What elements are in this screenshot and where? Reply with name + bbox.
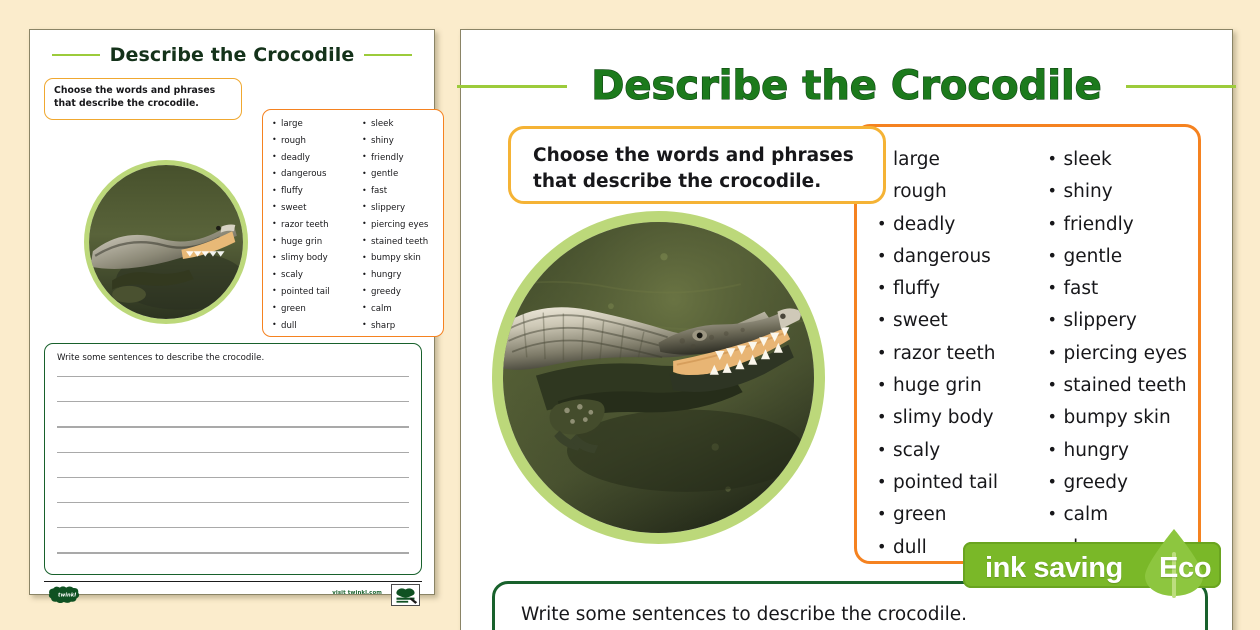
word-item[interactable]: stained teeth [362, 234, 443, 251]
word-item[interactable]: pointed tail [875, 467, 1028, 499]
word-list-column-1: largeroughdeadlydangerousfluffysweetrazo… [263, 116, 353, 336]
word-item[interactable]: greedy [1046, 467, 1199, 499]
word-item[interactable]: large [272, 116, 353, 133]
word-item[interactable]: sweet [272, 200, 353, 217]
crocodile-image [503, 222, 814, 533]
title-rule-right-icon [364, 54, 412, 56]
word-item[interactable]: shiny [362, 133, 443, 150]
word-item[interactable]: fluffy [875, 273, 1028, 305]
eco-badge-eco-text: Eco [1159, 552, 1211, 585]
word-item[interactable]: rough [272, 133, 353, 150]
writing-lines [57, 376, 409, 554]
word-list-column-2: sleekshinyfriendlygentlefastslipperypier… [353, 116, 443, 336]
instruction-box: Choose the words and phrases that descri… [44, 78, 242, 120]
thumbnail-header: Describe the Crocodile [30, 44, 434, 66]
word-item[interactable]: fast [1046, 273, 1199, 305]
footer-divider [44, 581, 422, 582]
word-item[interactable]: greedy [362, 284, 443, 301]
twinkl-rating-badge [391, 584, 420, 606]
word-item[interactable]: green [272, 301, 353, 318]
word-item[interactable]: rough [875, 176, 1028, 208]
ink-saving-eco-badge: ink saving Eco [963, 528, 1260, 598]
word-item[interactable]: sleek [362, 116, 443, 133]
writing-line [57, 426, 409, 427]
word-item[interactable]: dangerous [875, 241, 1028, 273]
word-item[interactable]: gentle [362, 166, 443, 183]
word-item[interactable]: slippery [362, 200, 443, 217]
instruction-line-1: Choose the words and phrases [54, 85, 233, 98]
instruction-box-large: Choose the words and phrases that descri… [508, 126, 886, 204]
writing-line [57, 502, 409, 503]
word-item[interactable]: green [875, 499, 1028, 531]
crocodile-illustration-icon [89, 165, 243, 319]
word-item[interactable]: sharp [362, 318, 443, 335]
writing-line [57, 477, 409, 478]
word-item[interactable]: friendly [362, 150, 443, 167]
word-list-box: largeroughdeadlydangerousfluffysweetrazo… [262, 109, 444, 337]
crocodile-illustration-icon [503, 222, 814, 533]
word-item[interactable]: gentle [1046, 241, 1199, 273]
page-title-large: Describe the Crocodile [591, 66, 1102, 106]
writing-prompt: Write some sentences to describe the cro… [521, 604, 1179, 625]
word-item[interactable]: calm [362, 301, 443, 318]
crocodile-photo-large [492, 211, 825, 544]
writing-line [57, 552, 409, 553]
writing-prompt: Write some sentences to describe the cro… [57, 353, 409, 363]
word-item[interactable]: calm [1046, 499, 1199, 531]
word-item[interactable]: scaly [272, 267, 353, 284]
crocodile-photo-thumbnail [84, 160, 248, 324]
word-item[interactable]: razor teeth [272, 217, 353, 234]
word-item[interactable]: slimy body [272, 250, 353, 267]
word-item[interactable]: hungry [1046, 435, 1199, 467]
word-item[interactable]: bumpy skin [1046, 402, 1199, 434]
word-list-column-2: sleekshinyfriendlygentlefastslipperypier… [1028, 144, 1199, 561]
word-item[interactable]: scaly [875, 435, 1028, 467]
title-rule-right-icon [1126, 85, 1236, 88]
word-item[interactable]: piercing eyes [1046, 338, 1199, 370]
word-item[interactable]: slimy body [875, 402, 1028, 434]
screenshot-stage: Describe the Crocodile Choose the words … [0, 0, 1260, 630]
word-item[interactable]: stained teeth [1046, 370, 1199, 402]
word-item[interactable]: huge grin [272, 234, 353, 251]
writing-area-box[interactable]: Write some sentences to describe the cro… [44, 343, 422, 575]
instruction-line-1: Choose the words and phrases [533, 143, 867, 169]
twinkl-logo-icon: twinkl [47, 586, 87, 603]
word-item[interactable]: bumpy skin [362, 250, 443, 267]
word-item[interactable]: hungry [362, 267, 443, 284]
writing-line [57, 401, 409, 402]
word-item[interactable]: sleek [1046, 144, 1199, 176]
eco-badge-label: ink saving [985, 552, 1123, 585]
word-item[interactable]: large [875, 144, 1028, 176]
word-item[interactable]: razor teeth [875, 338, 1028, 370]
word-item[interactable]: fluffy [272, 183, 353, 200]
word-list-column-1: largeroughdeadlydangerousfluffysweetrazo… [857, 144, 1028, 561]
word-item[interactable]: huge grin [875, 370, 1028, 402]
word-item[interactable]: piercing eyes [362, 217, 443, 234]
visit-url-text[interactable]: visit twinkl.com [332, 590, 382, 596]
writing-line [57, 527, 409, 528]
instruction-line-2: that describe the crocodile. [54, 98, 233, 111]
word-item[interactable]: deadly [875, 209, 1028, 241]
instruction-line-2: that describe the crocodile. [533, 169, 867, 195]
word-list-box-large: largeroughdeadlydangerousfluffysweetrazo… [854, 124, 1201, 564]
rating-badge-icon [392, 585, 419, 605]
word-item[interactable]: pointed tail [272, 284, 353, 301]
svg-text:twinkl: twinkl [58, 592, 76, 598]
word-item[interactable]: dangerous [272, 166, 353, 183]
crocodile-image [89, 165, 243, 319]
word-item[interactable]: slippery [1046, 305, 1199, 337]
title-rule-left-icon [52, 54, 100, 56]
word-item[interactable]: fast [362, 183, 443, 200]
word-item[interactable]: friendly [1046, 209, 1199, 241]
writing-line [57, 376, 409, 377]
page-title: Describe the Crocodile [110, 44, 355, 66]
worksheet-thumbnail-page[interactable]: Describe the Crocodile Choose the words … [29, 29, 435, 595]
title-rule-left-icon [457, 85, 567, 88]
writing-line [57, 452, 409, 453]
twinkl-logo[interactable]: twinkl [47, 586, 87, 603]
word-item[interactable]: dull [272, 318, 353, 335]
large-header: Describe the Crocodile [461, 66, 1232, 106]
word-item[interactable]: deadly [272, 150, 353, 167]
word-item[interactable]: sweet [875, 305, 1028, 337]
word-item[interactable]: shiny [1046, 176, 1199, 208]
